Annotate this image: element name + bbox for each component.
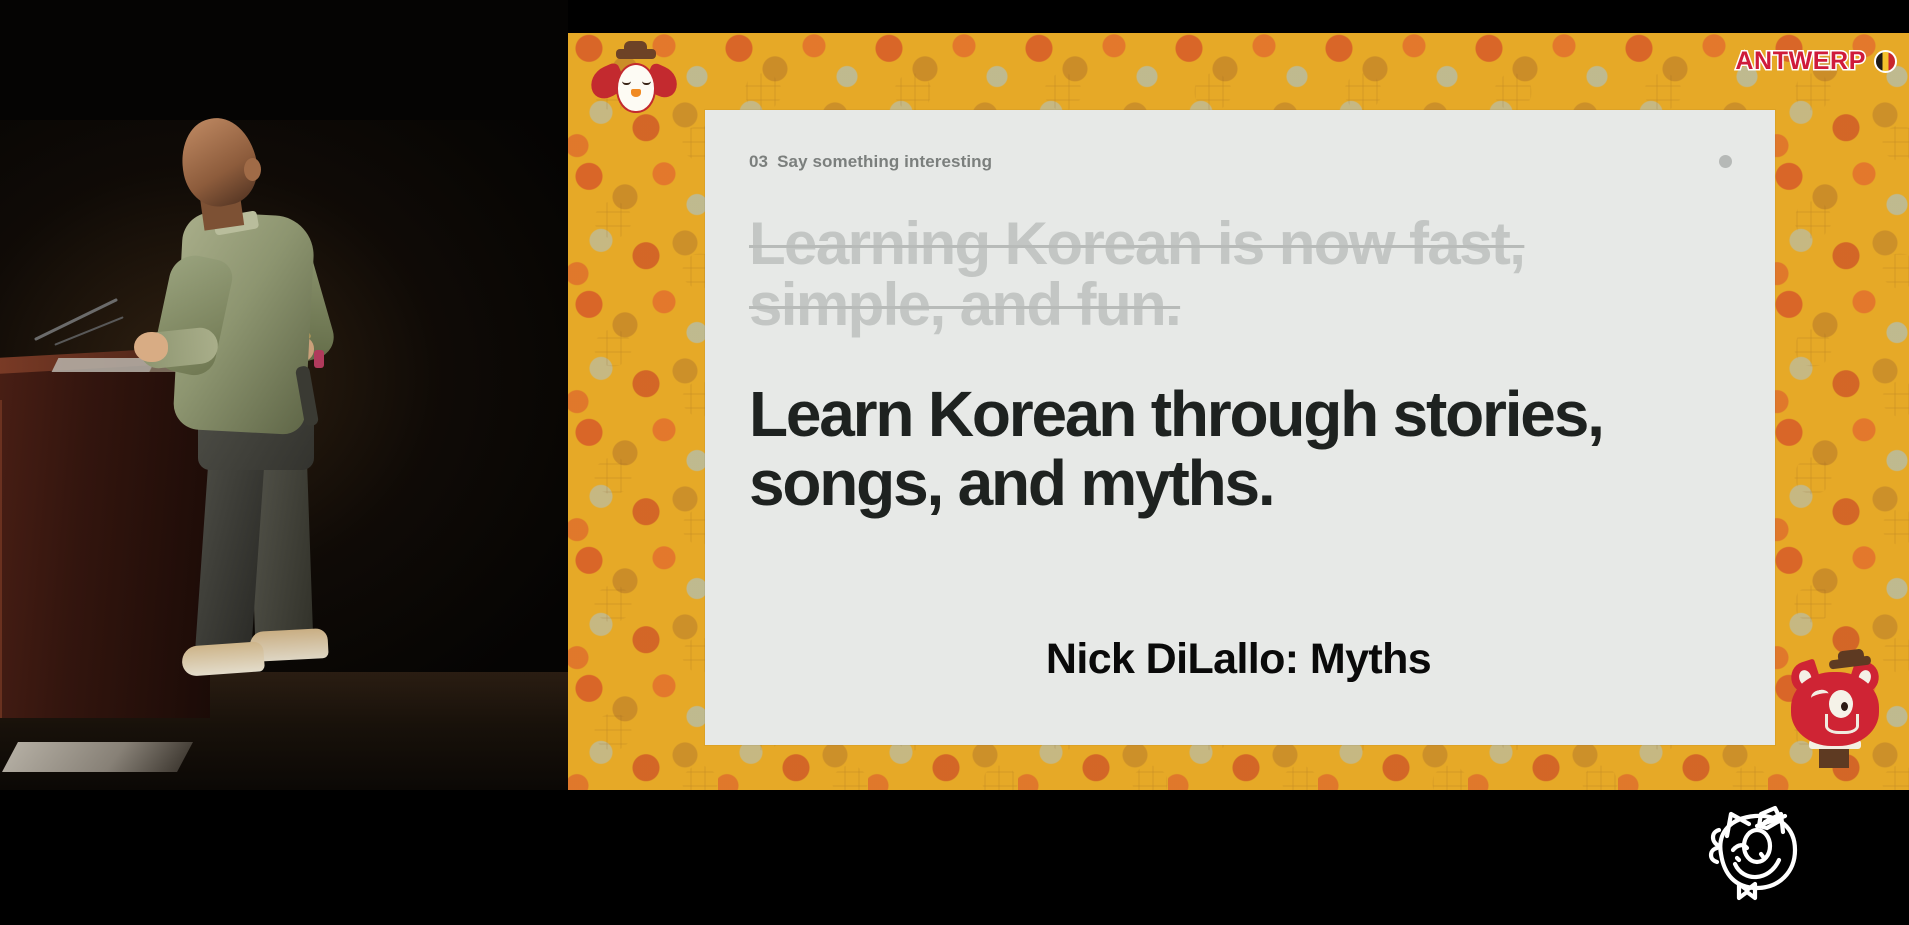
- video-letterbox-top: [568, 0, 1909, 33]
- antwerp-wordmark: ANTWERP: [1735, 47, 1866, 76]
- screen-root: ANTWERP 03Say something interesting Lear…: [0, 0, 1909, 925]
- bird-mascot: [590, 41, 676, 121]
- slide-main-headline: Learn Korean through stories, songs, and…: [749, 380, 1749, 518]
- antwerp-logo: ANTWERP: [1735, 47, 1897, 76]
- bird-beak: [631, 89, 641, 97]
- podium-edge-highlight: [0, 400, 2, 718]
- slide-camera-feed: ANTWERP 03Say something interesting Lear…: [568, 33, 1909, 790]
- slide-progress-dot: [1719, 155, 1732, 168]
- floor-light-strip: [2, 742, 193, 772]
- speaker-figure: [140, 118, 400, 718]
- lavalier-transmitter: [314, 350, 324, 368]
- struck-through-headline: Learning Korean is now fast, simple, and…: [749, 213, 1729, 335]
- slide-kicker: 03Say something interesting: [749, 152, 992, 172]
- speaker-hand: [134, 332, 168, 362]
- speaker-camera-feed: [0, 0, 568, 790]
- cat-in-top-hat-logo: [1697, 802, 1817, 907]
- bird-body: [616, 63, 656, 113]
- belgium-flag-icon: [1874, 50, 1897, 73]
- bird-hat-crown: [624, 41, 647, 54]
- slide-kicker-number: 03: [749, 152, 768, 171]
- slide-kicker-label: Say something interesting: [777, 152, 992, 171]
- fox-snout: [1825, 714, 1859, 734]
- speaker-caption: Nick DiLallo: Myths: [568, 635, 1909, 684]
- speaker-left-shoe: [181, 641, 265, 677]
- speaker-ear: [244, 158, 261, 181]
